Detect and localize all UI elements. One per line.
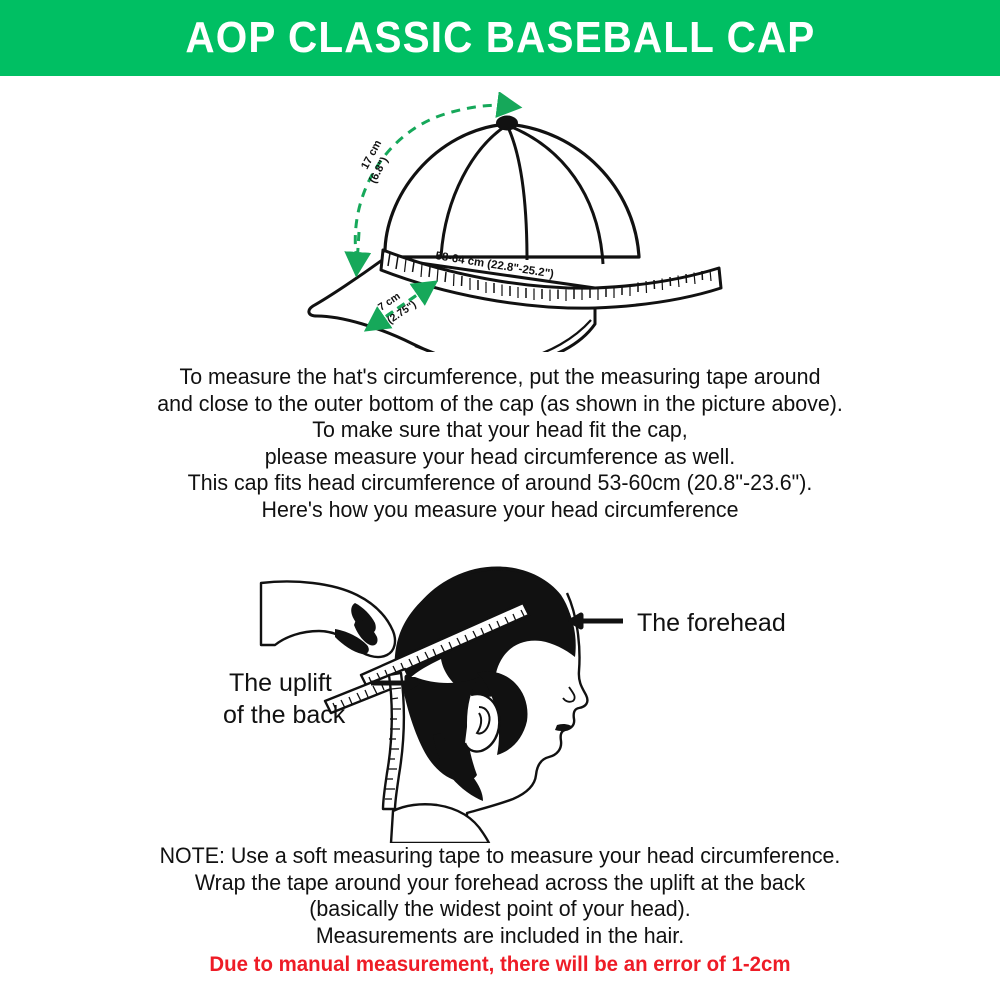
page-title: AOP CLASSIC BASEBALL CAP [185, 13, 815, 63]
cap-top-button [496, 116, 518, 131]
note-line-3: (basically the widest point of your head… [25, 896, 975, 923]
instruction-line-4: please measure your head circumference a… [25, 444, 975, 471]
header-banner: AOP CLASSIC BASEBALL CAP [0, 0, 1000, 76]
hand-outline [261, 582, 395, 658]
note-line-2: Wrap the tape around your forehead acros… [25, 870, 975, 897]
note-line-4: Measurements are included in the hair. [25, 923, 975, 950]
uplift-label-line1: The uplift [229, 669, 332, 697]
head-diagram: The forehead The uplift of the back [205, 553, 815, 843]
instruction-line-5: This cap fits head circumference of arou… [25, 470, 975, 497]
note-line-1: NOTE: Use a soft measuring tape to measu… [25, 843, 975, 870]
uplift-label-line2: of the back [223, 701, 346, 729]
lip-detail [555, 724, 573, 731]
note-text: NOTE: Use a soft measuring tape to measu… [0, 843, 1000, 978]
arrow-left-icon [571, 615, 623, 627]
instruction-line-1: To measure the hat's circumference, put … [25, 364, 975, 391]
forehead-callout: The forehead [571, 609, 786, 637]
instruction-line-2: and close to the outer bottom of the cap… [25, 391, 975, 418]
nostril-detail [563, 687, 575, 702]
cap-diagram: 58-64 cm (22.8"-25.2") 17 cm (6.8") 7 cm… [295, 92, 735, 352]
instruction-line-6: Here's how you measure your head circumf… [25, 497, 975, 524]
manual-measurement-warning: Due to manual measurement, there will be… [25, 951, 975, 978]
instruction-text: To measure the hat's circumference, put … [0, 364, 1000, 523]
forehead-label: The forehead [637, 609, 786, 637]
instruction-line-3: To make sure that your head fit the cap, [25, 417, 975, 444]
ear-outline [465, 694, 499, 751]
